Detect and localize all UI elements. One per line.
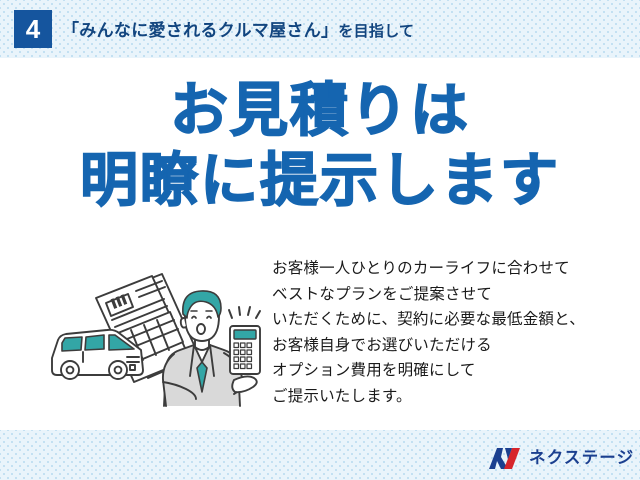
headline-line-2: 明瞭に提示します — [0, 152, 640, 210]
body-copy-line: ご提示いたします。 — [272, 384, 632, 410]
body-copy-line: ベストなプランをご提案させて — [272, 282, 632, 308]
header-title-tail: を目指して — [338, 23, 414, 40]
nextage-logo-mark-icon — [488, 447, 522, 470]
headline-line-1: お見積りは — [0, 82, 640, 140]
calculator-illustration — [229, 307, 260, 374]
section-number-badge: 4 — [14, 10, 52, 48]
headline: お見積りは 明瞭に提示します — [0, 82, 640, 210]
promo-banner: 4 「みんなに愛されるクルマ屋さん」を目指して お見積りは 明瞭に提示します お… — [0, 0, 640, 480]
header-title-main: 「みんなに愛されるクルマ屋さん」 — [62, 21, 338, 40]
body-copy-line: オプション費用を明確にして — [272, 358, 632, 384]
body-copy-line: お客様一人ひとりのカーライフに合わせて — [272, 256, 632, 282]
body-copy-line: いただくために、契約に必要な最低金額と、 — [272, 307, 632, 333]
body-copy: お客様一人ひとりのカーライフに合わせて ベストなプランをご提案させて いただくた… — [272, 256, 632, 409]
nextage-logo-text: ネクステージ — [529, 450, 634, 467]
header-title: 「みんなに愛されるクルマ屋さん」を目指して — [62, 16, 414, 41]
nextage-logo[interactable]: ネクステージ — [488, 446, 634, 470]
sparkle-rays — [229, 307, 260, 318]
body-copy-line: お客様自身でお選びいただける — [272, 333, 632, 359]
illustration-estimate-scene — [44, 258, 266, 420]
